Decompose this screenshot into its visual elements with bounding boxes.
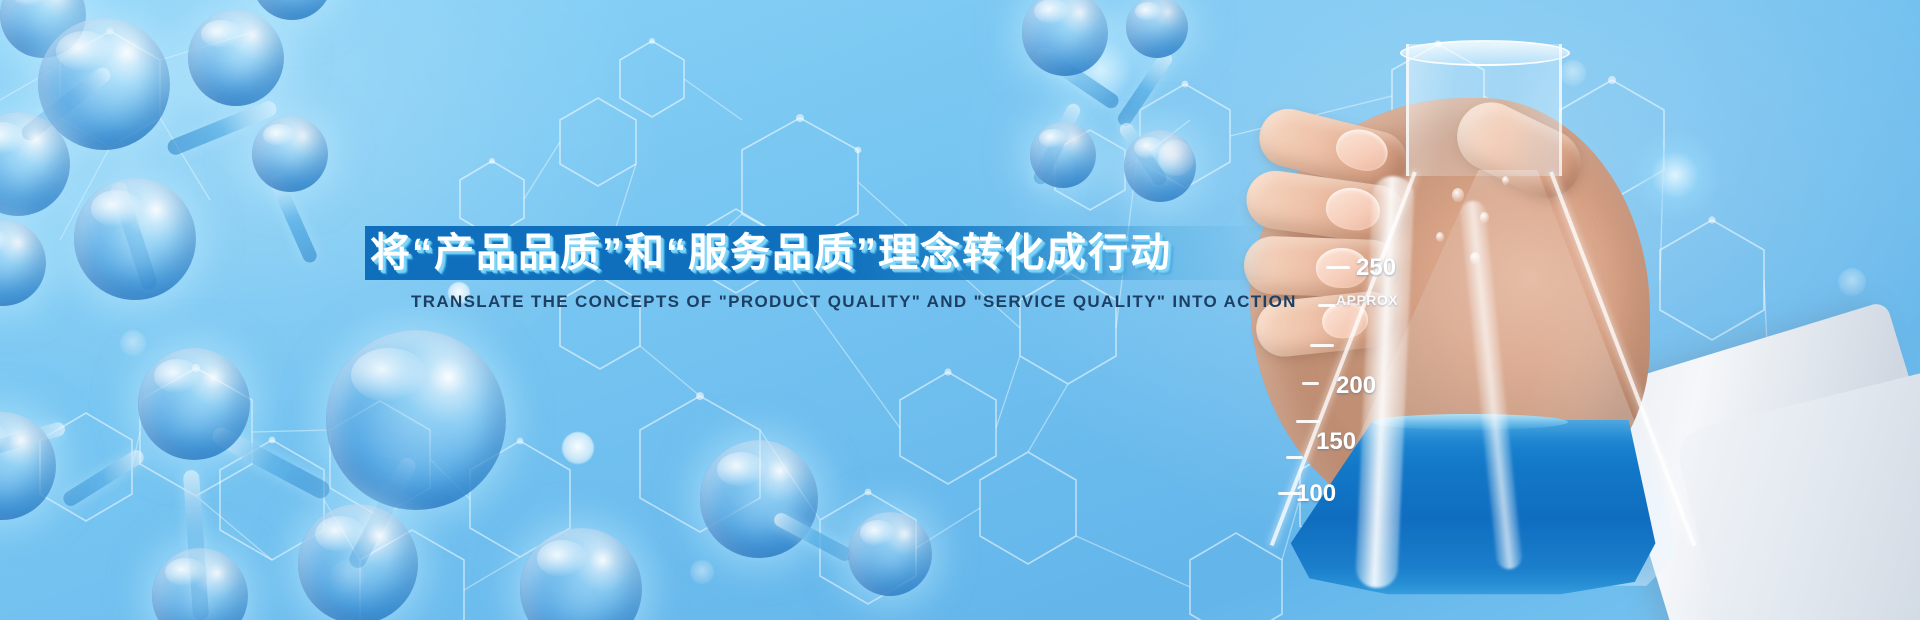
- banner-text-block: 将“产品品质”和“服务品质”理念转化成行动 TRANSLATE THE CONC…: [0, 0, 1920, 620]
- page-title: 将“产品品质”和“服务品质”理念转化成行动: [370, 222, 1172, 284]
- science-banner: 250 APPROX 200 150 100 将“产品品质”和“服务品质”理念转…: [0, 0, 1920, 620]
- page-subtitle: TRANSLATE THE CONCEPTS OF "PRODUCT QUALI…: [411, 292, 1297, 312]
